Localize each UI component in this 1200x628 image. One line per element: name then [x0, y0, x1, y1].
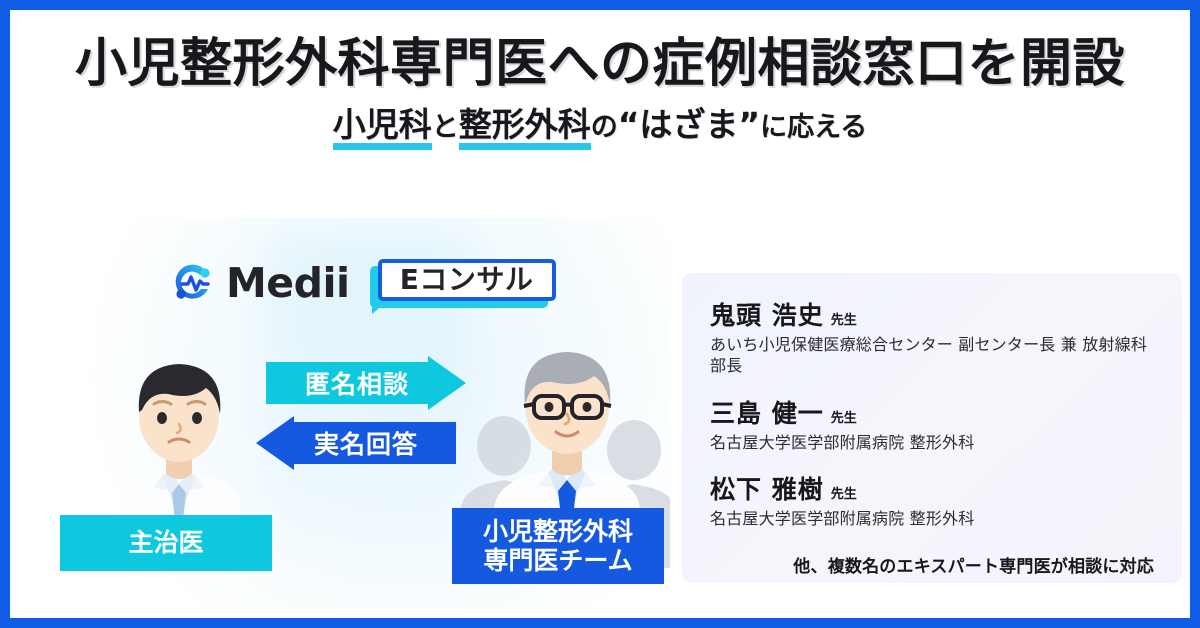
doctor-affiliation: あいち小児保健医療総合センター 副センター長 兼 放射線科部長: [710, 335, 1154, 377]
econsult-badge-front: Eコンサル: [378, 259, 556, 301]
frame-border-left: [0, 0, 10, 628]
subtitle-tail: に応える: [760, 112, 867, 143]
frame-border-right: [1190, 0, 1200, 628]
doctor-name-row: 松下 雅樹 先生: [710, 475, 1154, 505]
econsult-badge-tail: [372, 303, 385, 314]
service-diagram-panel: Medii Eコンサル: [20, 218, 670, 608]
medii-logo-lockup: Medii Eコンサル: [170, 259, 556, 308]
medii-logo-mark-icon: [170, 261, 216, 307]
arrow-named-answer: 実名回答: [256, 416, 456, 470]
role-box-specialist-team-line1: 小児整形外科: [483, 517, 633, 546]
doctors-panel: 鬼頭 浩史 先生 あいち小児保健医療総合センター 副センター長 兼 放射線科部長…: [682, 273, 1182, 583]
poster-canvas: 小児整形外科専門医への症例相談窓口を開設 小児科と整形外科の“はざま”に応える: [0, 0, 1200, 628]
doctor-honorific: 先生: [831, 309, 857, 328]
doctor-honorific: 先生: [831, 483, 857, 502]
econsult-badge-label: Eコンサル: [400, 266, 534, 294]
doctor-name-row: 三島 健一 先生: [710, 399, 1154, 429]
arrow-anonymous-consult: 匿名相談: [266, 356, 466, 410]
page-subtitle: 小児科と整形外科の“はざま”に応える: [10, 106, 1190, 147]
doctor-name-row: 鬼頭 浩史 先生: [710, 301, 1154, 331]
doctor-entry: 松下 雅樹 先生 名古屋大学医学部附属病院 整形外科: [710, 475, 1154, 530]
subtitle-emphasis-orthopedics: 整形外科: [459, 106, 591, 147]
subtitle-quote-close: ”: [738, 105, 760, 144]
frame-border-top: [0, 0, 1200, 10]
doctor-name: 三島 健一: [710, 399, 824, 429]
subtitle-quote-open: “: [618, 105, 640, 144]
doctor-entry: 三島 健一 先生 名古屋大学医学部附属病院 整形外科: [710, 399, 1154, 454]
doctor-entry: 鬼頭 浩史 先生 あいち小児保健医療総合センター 副センター長 兼 放射線科部長: [710, 301, 1154, 377]
role-box-specialist-team: 小児整形外科 専門医チーム: [452, 508, 664, 584]
role-box-attending-physician: 主治医: [60, 515, 272, 571]
subtitle-quoted-word: はざま: [639, 105, 738, 144]
doctor-honorific: 先生: [831, 407, 857, 426]
doctor-affiliation: 名古屋大学医学部附属病院 整形外科: [710, 433, 1154, 454]
subtitle-particle: の: [591, 112, 618, 143]
frame-border-bottom: [0, 618, 1200, 628]
role-box-specialist-team-text: 小児整形外科 専門医チーム: [483, 517, 633, 576]
poster-inner: 小児整形外科専門医への症例相談窓口を開設 小児科と整形外科の“はざま”に応える: [10, 10, 1190, 618]
page-title: 小児整形外科専門医への症例相談窓口を開設: [10, 36, 1190, 92]
subtitle-emphasis-pediatrics: 小児科: [333, 106, 432, 147]
econsult-badge: Eコンサル: [370, 259, 556, 308]
subtitle-connector: と: [432, 112, 459, 143]
role-box-attending-physician-label: 主治医: [128, 528, 203, 558]
arrow-named-answer-label: 実名回答: [256, 416, 456, 470]
doctor-name: 松下 雅樹: [710, 475, 824, 505]
arrow-anonymous-consult-label: 匿名相談: [266, 356, 466, 410]
doctor-name: 鬼頭 浩史: [710, 301, 824, 331]
doctor-affiliation: 名古屋大学医学部附属病院 整形外科: [710, 509, 1154, 530]
headline-block: 小児整形外科専門医への症例相談窓口を開設 小児科と整形外科の“はざま”に応える: [10, 36, 1190, 147]
doctors-panel-footer-note: 他、複数名のエキスパート専門医が相談に対応: [710, 552, 1154, 577]
medii-wordmark: Medii: [226, 263, 350, 304]
role-box-specialist-team-line2: 専門医チーム: [483, 546, 632, 575]
